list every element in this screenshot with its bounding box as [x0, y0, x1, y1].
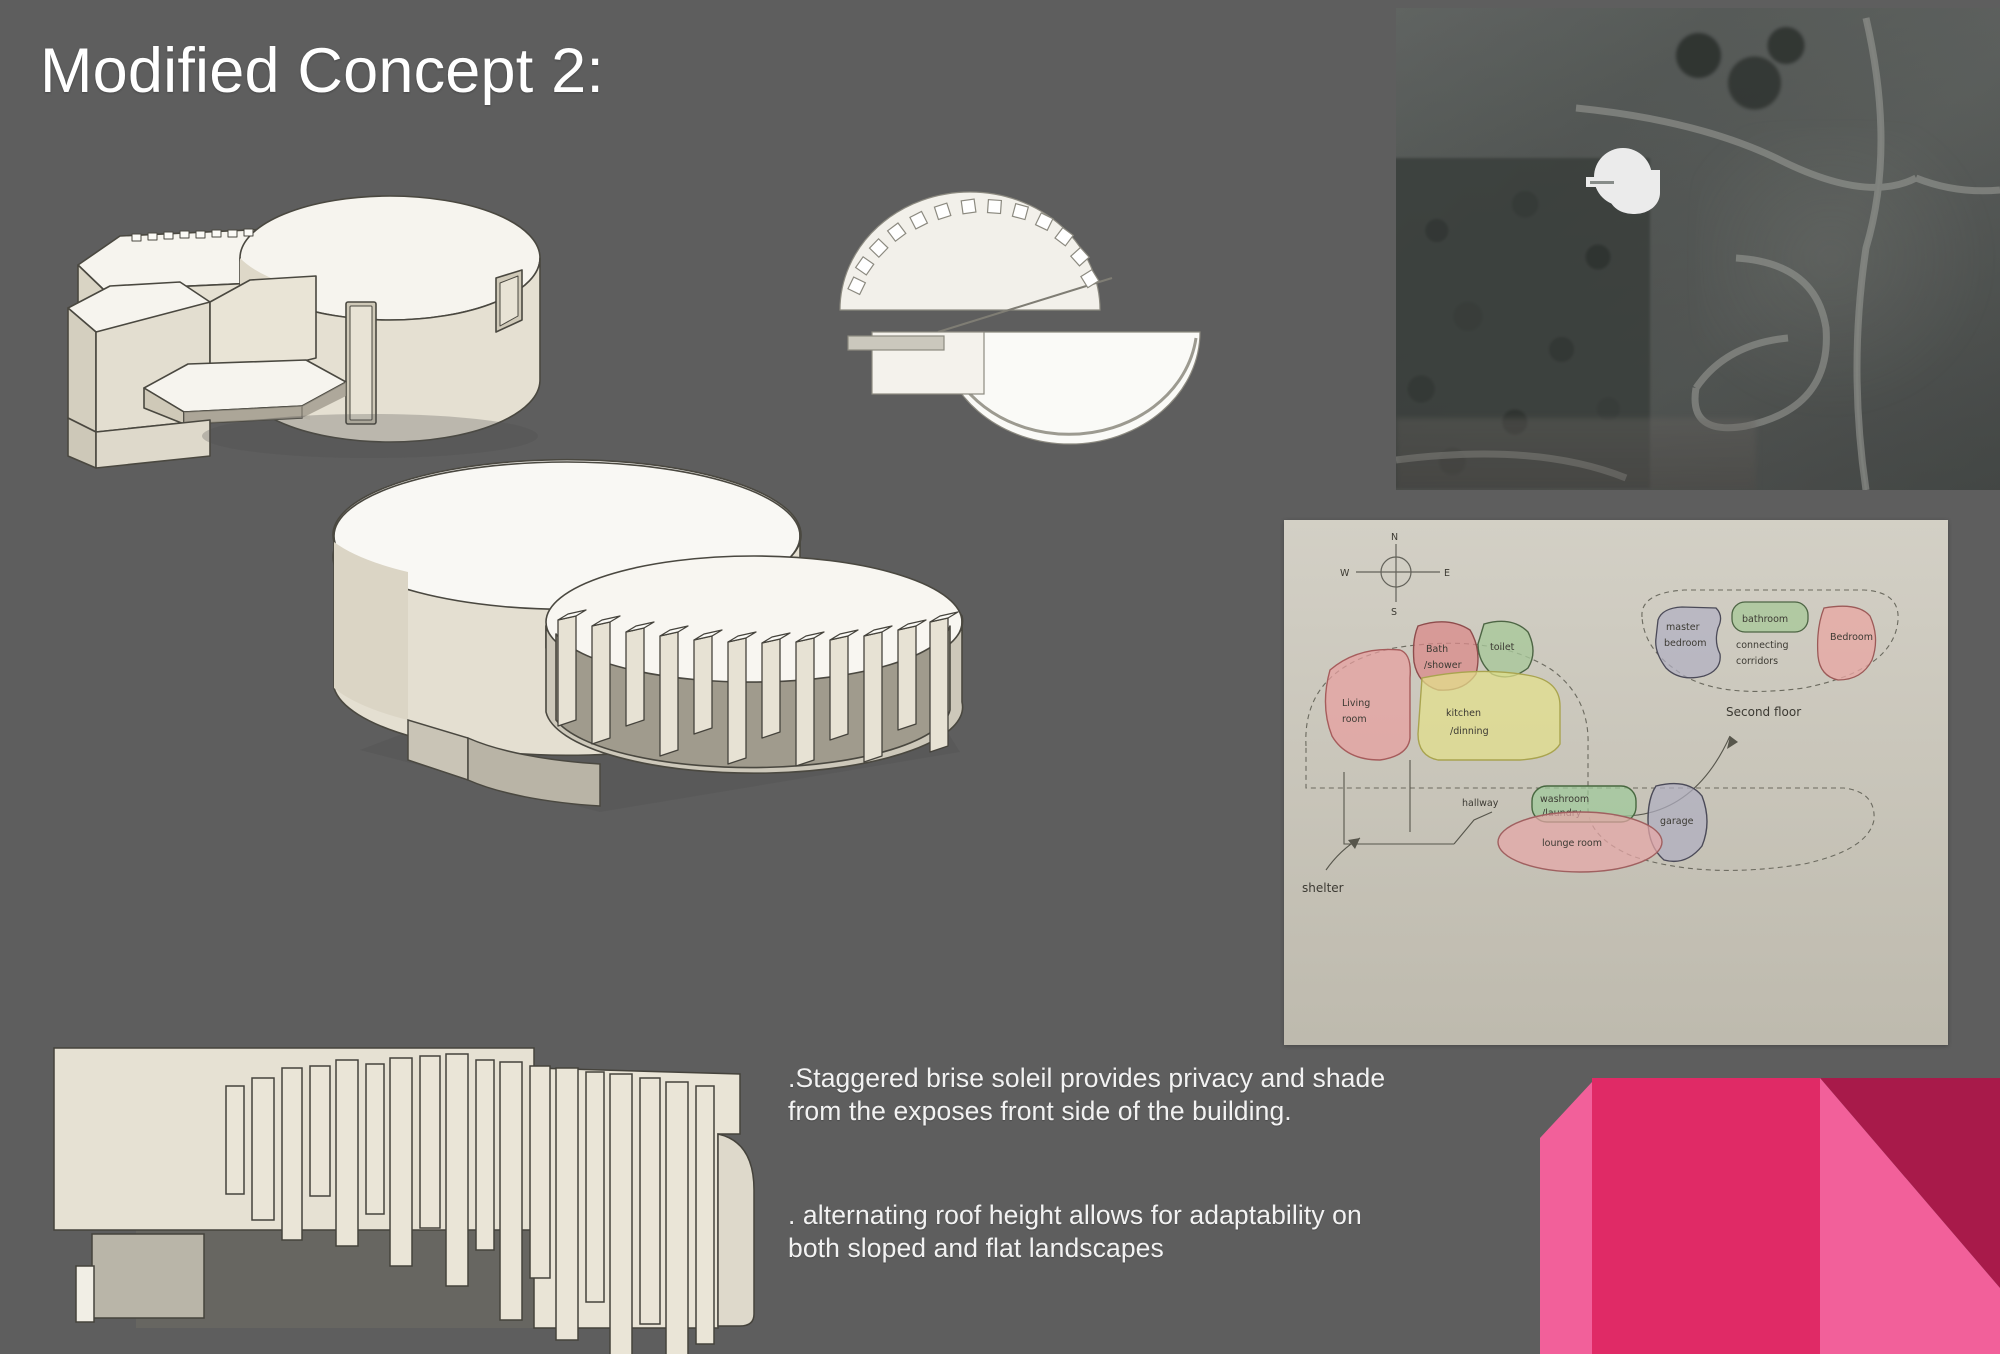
- aerial-bottom-structures: [1396, 418, 1756, 490]
- zone-label-bath-2: /shower: [1424, 660, 1462, 671]
- compass-west-label: W: [1340, 568, 1350, 579]
- zone-label-master-bedroom-2: bedroom: [1664, 638, 1706, 649]
- zone-kitchen-dinning: [1418, 671, 1560, 760]
- zone-label-living-2: room: [1342, 714, 1367, 725]
- zone-label-bath-1: Bath: [1426, 644, 1448, 655]
- roof-plan-view: [820, 160, 1220, 460]
- zone-label-connecting-2: corridors: [1736, 656, 1778, 667]
- second-floor-group: master bedroom bathroom Bedroom connecti…: [1614, 590, 1898, 816]
- zone-label-toilet: toilet: [1490, 642, 1515, 653]
- page-title: Modified Concept 2:: [40, 38, 604, 104]
- zone-label-bathroom: bathroom: [1742, 614, 1788, 625]
- hand-drawn-bubble-diagram: .hand { font-family:"DejaVu Sans", sans-…: [1284, 520, 1948, 1045]
- decorative-corner-triangles: [1540, 1038, 2000, 1354]
- bubble-diagram-svg: .hand { font-family:"DejaVu Sans", sans-…: [1284, 520, 1948, 1045]
- zone-label-hallway: hallway: [1462, 798, 1499, 809]
- compass-south-label: S: [1391, 607, 1397, 618]
- zone-label-garage: garage: [1660, 816, 1694, 827]
- slide-canvas: Modified Concept 2:: [0, 0, 2000, 1354]
- zone-label-kitchen-1: kitchen: [1446, 708, 1481, 719]
- body-text-roof-height: . alternating roof height allows for ada…: [788, 1199, 1388, 1266]
- ground-floor-group: Living room Bath /shower toilet kitchen …: [1302, 621, 1874, 895]
- zone-label-connecting-1: connecting: [1736, 640, 1789, 651]
- annotation-shelter: shelter: [1302, 881, 1344, 895]
- compass-rose: N S E W: [1340, 532, 1450, 618]
- zone-bedroom: [1818, 606, 1876, 680]
- zone-label-kitchen-2: /dinning: [1450, 726, 1489, 737]
- compass-east-label: E: [1444, 568, 1450, 579]
- annotation-second-floor: Second floor: [1726, 705, 1801, 719]
- pink-triangle-mid: [1592, 1078, 1820, 1354]
- zone-label-lounge: lounge room: [1542, 838, 1602, 849]
- body-text-brise-soleil: .Staggered brise soleil provides privacy…: [788, 1062, 1388, 1129]
- zone-label-washroom-1: washroom: [1540, 794, 1589, 805]
- compass-north-label: N: [1391, 532, 1398, 543]
- perspective-brise-soleil: [300, 420, 1020, 840]
- zone-label-master-bedroom-1: master: [1666, 622, 1700, 633]
- front-elevation: [40, 1030, 780, 1354]
- zone-label-living-1: Living: [1342, 698, 1370, 709]
- site-building-footprint-overlay: [1586, 148, 1660, 214]
- zone-label-bedroom: Bedroom: [1830, 632, 1873, 643]
- site-aerial-photo: [1396, 8, 2000, 490]
